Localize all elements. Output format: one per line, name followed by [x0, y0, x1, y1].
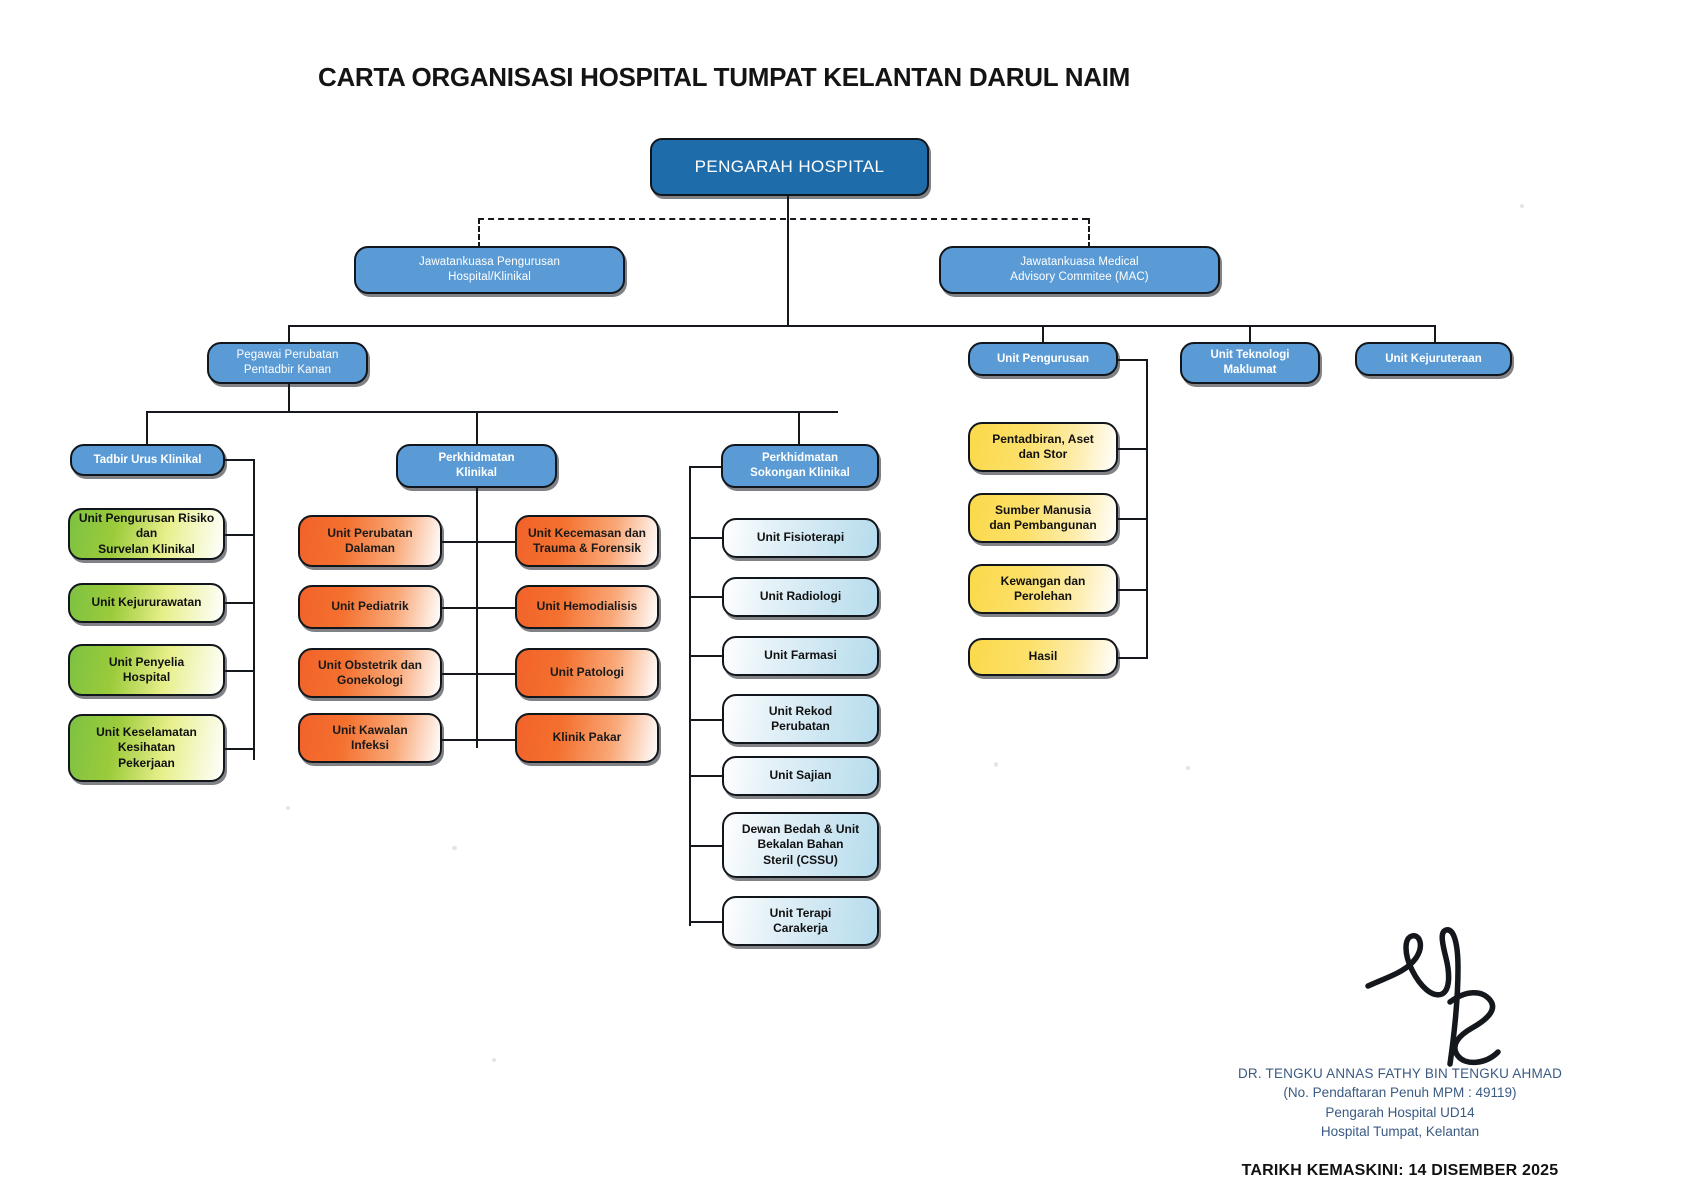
node-label: Tadbir Urus Klinikal	[78, 453, 217, 468]
node-label: Unit Patologi	[523, 665, 651, 680]
connector-sokongan-stub-1	[689, 537, 722, 539]
connector-root-down	[787, 196, 789, 218]
scan-speck	[492, 1058, 496, 1062]
node-hasil[interactable]: Hasil	[968, 638, 1118, 676]
node-label: Unit Pengurusan Risiko danSurvelan Klini…	[76, 511, 217, 557]
signature-mark	[1354, 924, 1534, 1074]
node-klinik-pakar[interactable]: Klinik Pakar	[515, 713, 659, 763]
node-label: Unit Farmasi	[730, 648, 871, 663]
connector-division-drop-2	[1042, 325, 1044, 342]
connector-tadbir-stub-4	[225, 748, 255, 750]
node-label: Unit Pediatrik	[306, 599, 434, 614]
connector-division-drop-1	[288, 325, 290, 342]
connector-klinikal-right-3	[476, 673, 516, 675]
node-label: Unit Pengurusan	[976, 352, 1110, 367]
scan-speck	[994, 762, 998, 767]
connector-tadbir-stub-head	[225, 459, 255, 461]
node-label: Unit PerubatanDalaman	[306, 526, 434, 557]
connector-sokongan-stub-head	[689, 466, 722, 468]
connector-klinikal-spine	[476, 476, 478, 748]
node-pentadbiran-aset-stor[interactable]: Pentadbiran, Asetdan Stor	[968, 422, 1118, 472]
connector-sokongan-stub-3	[689, 655, 722, 657]
node-jawatankuasa-mac[interactable]: Jawatankuasa MedicalAdvisory Commitee (M…	[939, 246, 1220, 294]
node-unit-pengurusan[interactable]: Unit Pengurusan	[968, 342, 1118, 376]
node-label: Pegawai PerubatanPentadbir Kanan	[215, 348, 360, 377]
connector-sokongan-stub-2	[689, 596, 722, 598]
node-label: PerkhidmatanKlinikal	[404, 451, 549, 480]
signatory-registration: (No. Pendaftaran Penuh MPM : 49119)	[1130, 1083, 1670, 1103]
node-unit-obstetrik-gonekologi[interactable]: Unit Obstetrik danGonekologi	[298, 648, 442, 698]
node-unit-perubatan-dalaman[interactable]: Unit PerubatanDalaman	[298, 515, 442, 567]
connector-committee-dashed-left	[478, 218, 480, 248]
connector-committee-dashed-right	[1088, 218, 1090, 248]
node-label: PENGARAH HOSPITAL	[658, 156, 921, 178]
connector-committee-dashed-h	[478, 218, 1088, 220]
node-pegawai-perubatan-pentadbir-kanan[interactable]: Pegawai PerubatanPentadbir Kanan	[207, 342, 368, 384]
node-label: Dewan Bedah & UnitBekalan BahanSteril (C…	[730, 822, 871, 868]
signature-block: DR. TENGKU ANNAS FATHY BIN TENGKU AHMAD …	[1130, 1064, 1670, 1180]
connector-klinikal-left-2	[441, 607, 477, 609]
node-unit-fisioterapi[interactable]: Unit Fisioterapi	[722, 518, 879, 558]
node-unit-pediatrik[interactable]: Unit Pediatrik	[298, 585, 442, 629]
page-title: CARTA ORGANISASI HOSPITAL TUMPAT KELANTA…	[0, 62, 1566, 93]
connector-klinikal-left-3	[441, 673, 477, 675]
node-sumber-manusia-pembangunan[interactable]: Sumber Manusiadan Pembangunan	[968, 493, 1118, 543]
node-label: Unit Kejuruteraan	[1363, 352, 1504, 367]
connector-division-drop-3	[1249, 325, 1251, 342]
signatory-place: Hospital Tumpat, Kelantan	[1130, 1122, 1670, 1142]
connector-klinikal-right-2	[476, 607, 516, 609]
connector-section-drop-3	[798, 411, 800, 444]
node-unit-kejururawatan[interactable]: Unit Kejururawatan	[68, 583, 225, 623]
connector-root-trunk	[787, 218, 789, 326]
connector-sokongan-stub-5	[689, 775, 722, 777]
connector-tadbir-stub-3	[225, 670, 255, 672]
node-perkhidmatan-klinikal[interactable]: PerkhidmatanKlinikal	[396, 444, 557, 488]
node-unit-penyelia-hospital[interactable]: Unit PenyeliaHospital	[68, 644, 225, 696]
connector-sokongan-stub-7	[689, 921, 722, 923]
org-chart-canvas: CARTA ORGANISASI HOSPITAL TUMPAT KELANTA…	[0, 0, 1684, 1192]
node-label: Unit KawalanInfeksi	[306, 723, 434, 754]
node-unit-rekod-perubatan[interactable]: Unit RekodPerubatan	[722, 694, 879, 744]
node-label: Unit Hemodialisis	[523, 599, 651, 614]
connector-pengurusan-stub-head	[1118, 359, 1148, 361]
node-unit-kecemasan-trauma-forensik[interactable]: Unit Kecemasan danTrauma & Forensik	[515, 515, 659, 567]
connector-section-drop-2	[476, 411, 478, 444]
connector-section-bus	[146, 411, 838, 413]
connector-pengurusan-stub-3	[1118, 589, 1148, 591]
connector-tadbir-stub-2	[225, 602, 255, 604]
node-unit-hemodialisis[interactable]: Unit Hemodialisis	[515, 585, 659, 629]
node-pengarah-hospital[interactable]: PENGARAH HOSPITAL	[650, 138, 929, 196]
connector-pegawai-down	[288, 382, 290, 412]
node-label: Unit Sajian	[730, 768, 871, 783]
node-label: Unit TerapiCarakerja	[730, 906, 871, 937]
signatory-position: Pengarah Hospital UD14	[1130, 1103, 1670, 1123]
node-kewangan-perolehan[interactable]: Kewangan danPerolehan	[968, 564, 1118, 614]
node-unit-radiologi[interactable]: Unit Radiologi	[722, 577, 879, 617]
node-label: Unit Kejururawatan	[76, 595, 217, 610]
node-label: Hasil	[976, 649, 1110, 664]
connector-pengurusan-stub-2	[1118, 518, 1148, 520]
node-jawatankuasa-pengurusan[interactable]: Jawatankuasa PengurusanHospital/Klinikal	[354, 246, 625, 294]
node-label: Pentadbiran, Asetdan Stor	[976, 432, 1110, 463]
connector-division-bus	[288, 325, 1434, 327]
scan-speck	[452, 846, 457, 850]
node-unit-teknologi-maklumat[interactable]: Unit TeknologiMaklumat	[1180, 342, 1320, 384]
scan-speck	[1520, 204, 1524, 208]
node-label: Unit Kecemasan danTrauma & Forensik	[523, 526, 651, 557]
connector-pengurusan-spine	[1146, 359, 1148, 659]
node-unit-keselamatan-kesihatan-pekerjaan[interactable]: Unit KeselamatanKesihatanPekerjaan	[68, 714, 225, 782]
connector-klinikal-left-1	[441, 541, 477, 543]
connector-pengurusan-stub-4	[1118, 657, 1148, 659]
connector-sokongan-spine	[689, 466, 691, 926]
connector-klinikal-right-1	[476, 541, 516, 543]
node-label: Unit KeselamatanKesihatanPekerjaan	[76, 725, 217, 771]
node-dewan-bedah-cssu[interactable]: Dewan Bedah & UnitBekalan BahanSteril (C…	[722, 812, 879, 878]
node-label: Unit RekodPerubatan	[730, 704, 871, 735]
node-unit-kejuruteraan[interactable]: Unit Kejuruteraan	[1355, 342, 1512, 376]
connector-tadbir-stub-1	[225, 534, 255, 536]
connector-tadbir-spine	[253, 460, 255, 760]
connector-sokongan-stub-4	[689, 719, 722, 721]
connector-sokongan-stub-6	[689, 845, 722, 847]
update-date-label: TARIKH KEMASKINI: 14 DISEMBER 2025	[1130, 1162, 1670, 1180]
connector-klinikal-right-4	[476, 739, 516, 741]
connector-division-drop-4	[1434, 325, 1436, 342]
scan-speck	[286, 806, 290, 810]
scan-speck	[1186, 766, 1190, 770]
node-label: Jawatankuasa MedicalAdvisory Commitee (M…	[947, 255, 1212, 284]
node-label: Unit PenyeliaHospital	[76, 655, 217, 686]
node-label: Kewangan danPerolehan	[976, 574, 1110, 605]
node-tadbir-urus-klinikal[interactable]: Tadbir Urus Klinikal	[70, 444, 225, 476]
connector-section-drop-1	[146, 411, 148, 444]
node-label: Unit TeknologiMaklumat	[1188, 348, 1312, 377]
node-label: Klinik Pakar	[523, 730, 651, 745]
node-unit-kawalan-infeksi[interactable]: Unit KawalanInfeksi	[298, 713, 442, 763]
node-perkhidmatan-sokongan-klinikal[interactable]: PerkhidmatanSokongan Klinikal	[721, 444, 879, 488]
node-label: Unit Fisioterapi	[730, 530, 871, 545]
node-unit-sajian[interactable]: Unit Sajian	[722, 756, 879, 796]
node-unit-terapi-carakerja[interactable]: Unit TerapiCarakerja	[722, 896, 879, 946]
node-label: Sumber Manusiadan Pembangunan	[976, 503, 1110, 534]
node-unit-patologi[interactable]: Unit Patologi	[515, 648, 659, 698]
connector-pengurusan-stub-1	[1118, 448, 1148, 450]
node-label: PerkhidmatanSokongan Klinikal	[729, 451, 871, 480]
node-label: Jawatankuasa PengurusanHospital/Klinikal	[362, 255, 617, 284]
node-unit-farmasi[interactable]: Unit Farmasi	[722, 636, 879, 676]
node-label: Unit Radiologi	[730, 589, 871, 604]
node-label: Unit Obstetrik danGonekologi	[306, 658, 434, 689]
connector-klinikal-left-4	[441, 739, 477, 741]
node-unit-pengurusan-risiko[interactable]: Unit Pengurusan Risiko danSurvelan Klini…	[68, 508, 225, 560]
